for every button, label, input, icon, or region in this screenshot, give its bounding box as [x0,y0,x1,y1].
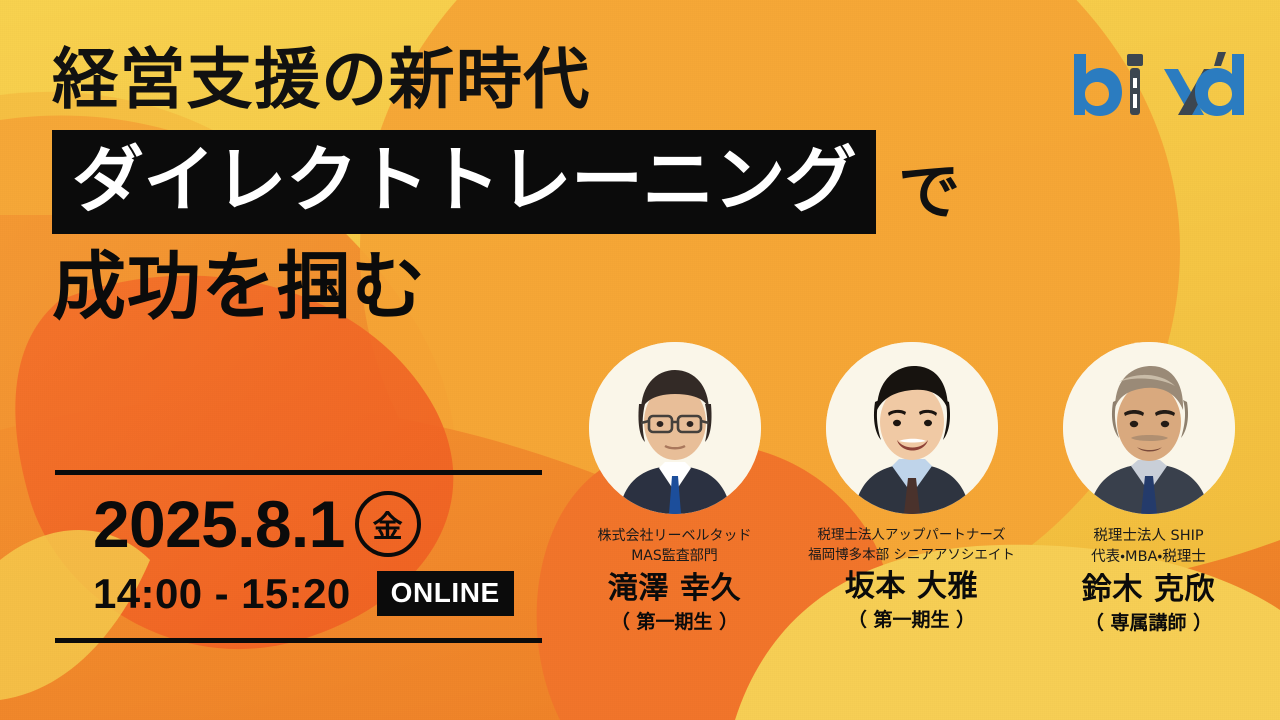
day-of-week-badge: 金 [355,491,421,557]
speaker-name: 鈴木 克欣 [1082,575,1215,605]
speaker-note: （ 第一期生 ） [848,611,975,630]
speaker-note: （ 専属講師 ） [1085,614,1212,633]
headline-block: 経営支援の新時代 ダイレクトトレーニング で 成功を掴む [52,46,1212,324]
speaker-org: 税理士法人アップパートナーズ 福岡博多本部 シニアアソシエイト [808,526,1015,565]
avatar [826,342,998,514]
avatar [589,342,761,514]
banner-canvas: 経営支援の新時代 ダイレクトトレーニング で 成功を掴む 2025.8.1 金 … [0,0,1280,720]
headline-highlight-band: ダイレクトトレーニング [52,130,876,234]
speaker-org-line-2: MAS監査部門 [598,546,752,566]
speaker-org-line-1: 税理士法人 SHIP [1091,526,1206,547]
speaker-org-line-1: 株式会社リーベルタッド [598,526,752,546]
event-details-block: 2025.8.1 金 14:00 - 15:20 ONLINE [55,470,542,643]
headline-line-1: 経営支援の新時代 [52,46,1212,116]
speaker-card: 税理士法人 SHIP 代表・MBA・税理士 鈴木 克欣 （ 専属講師 ） [1030,342,1267,633]
speaker-org-line-2: 代表・MBA・税理士 [1091,547,1206,568]
headline-line-2-row: ダイレクトトレーニング で [52,130,1212,234]
divider-top [55,470,542,475]
avatar [1063,342,1235,514]
speaker-name: 坂本 大雅 [845,572,978,602]
headline-line-2-suffix: で [898,161,960,223]
event-date-row: 2025.8.1 金 [93,491,542,557]
online-badge: ONLINE [377,571,514,616]
speaker-org-line-1: 税理士法人アップパートナーズ [808,526,1015,546]
speaker-org: 税理士法人 SHIP 代表・MBA・税理士 [1091,526,1206,568]
divider-bottom [55,638,542,643]
speaker-note: （ 第一期生 ） [611,613,738,632]
speaker-card: 株式会社リーベルタッド MAS監査部門 滝澤 幸久 （ 第一期生 ） [556,342,793,633]
speakers-row: 株式会社リーベルタッド MAS監査部門 滝澤 幸久 （ 第一期生 ） [556,342,1268,633]
speaker-card: 税理士法人アップパートナーズ 福岡博多本部 シニアアソシエイト 坂本 大雅 （ … [793,342,1030,633]
headline-line-3: 成功を掴む [52,250,1212,324]
event-time-row: 14:00 - 15:20 ONLINE [93,571,542,616]
event-date: 2025.8.1 [93,491,345,557]
speaker-org-line-2: 福岡博多本部 シニアアソシエイト [808,546,1015,566]
speaker-name: 滝澤 幸久 [608,574,741,604]
speaker-org: 株式会社リーベルタッド MAS監査部門 [598,526,752,567]
event-time: 14:00 - 15:20 [93,573,351,615]
